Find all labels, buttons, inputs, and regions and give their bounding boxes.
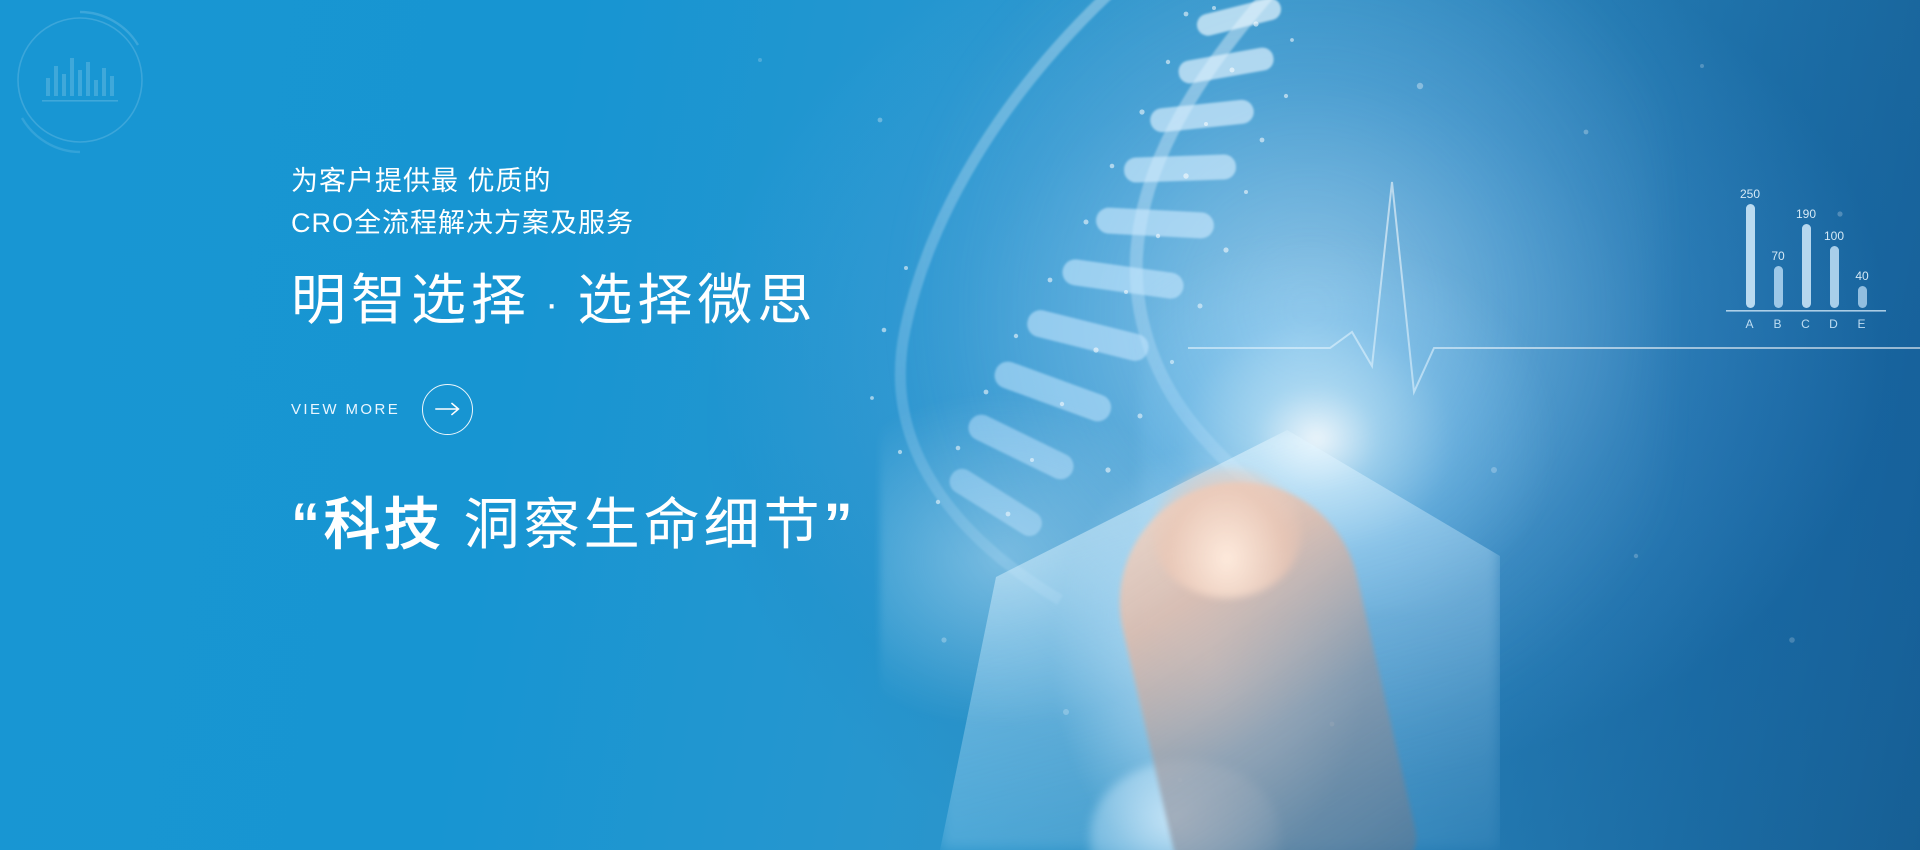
hero-subtitle-line-2: CRO全流程解决方案及服务 [291,202,1051,244]
hero-banner: 250 70 190 100 40 A B C D E [0,0,1920,850]
axis-tick-d: D [1829,317,1839,331]
arrow-right-icon[interactable] [422,384,473,435]
fingertip-highlight [1152,468,1302,598]
bar-label-a: 250 [1740,187,1760,201]
headline-separator-dot: · [545,282,563,326]
bar-chart: 250 70 190 100 40 A B C D E [1716,186,1912,336]
axis-tick-c: C [1801,317,1811,331]
headline-part-1: 明智选择 [291,269,531,331]
view-more-label: VIEW MORE [291,401,400,418]
hero-quote: “科技 洞察生命细节” [291,493,1051,557]
axis-tick-b: B [1773,317,1782,331]
axis-tick-e: E [1857,317,1866,331]
axis-tick-a: A [1745,317,1754,331]
quote-close-mark: ” [824,492,857,557]
quote-body: 洞察生命细节 [464,493,824,556]
hero-headline: 明智选择·选择微思 [291,270,1051,332]
bar-label-d: 100 [1824,229,1844,243]
hud-ring-icon [0,0,160,160]
hero-content: 为客户提供最 优质的 CRO全流程解决方案及服务 明智选择·选择微思 VIEW … [291,160,1051,556]
bar-label-b: 70 [1771,249,1785,263]
quote-emphasis: 科技 [324,493,444,556]
quote-open-mark: “ [291,492,324,557]
bar-label-e: 40 [1855,269,1869,283]
bar-label-c: 190 [1796,207,1816,221]
hero-subtitle-line-1: 为客户提供最 优质的 [291,160,1051,202]
view-more-button[interactable]: VIEW MORE [291,384,473,435]
headline-part-2: 选择微思 [577,269,817,331]
